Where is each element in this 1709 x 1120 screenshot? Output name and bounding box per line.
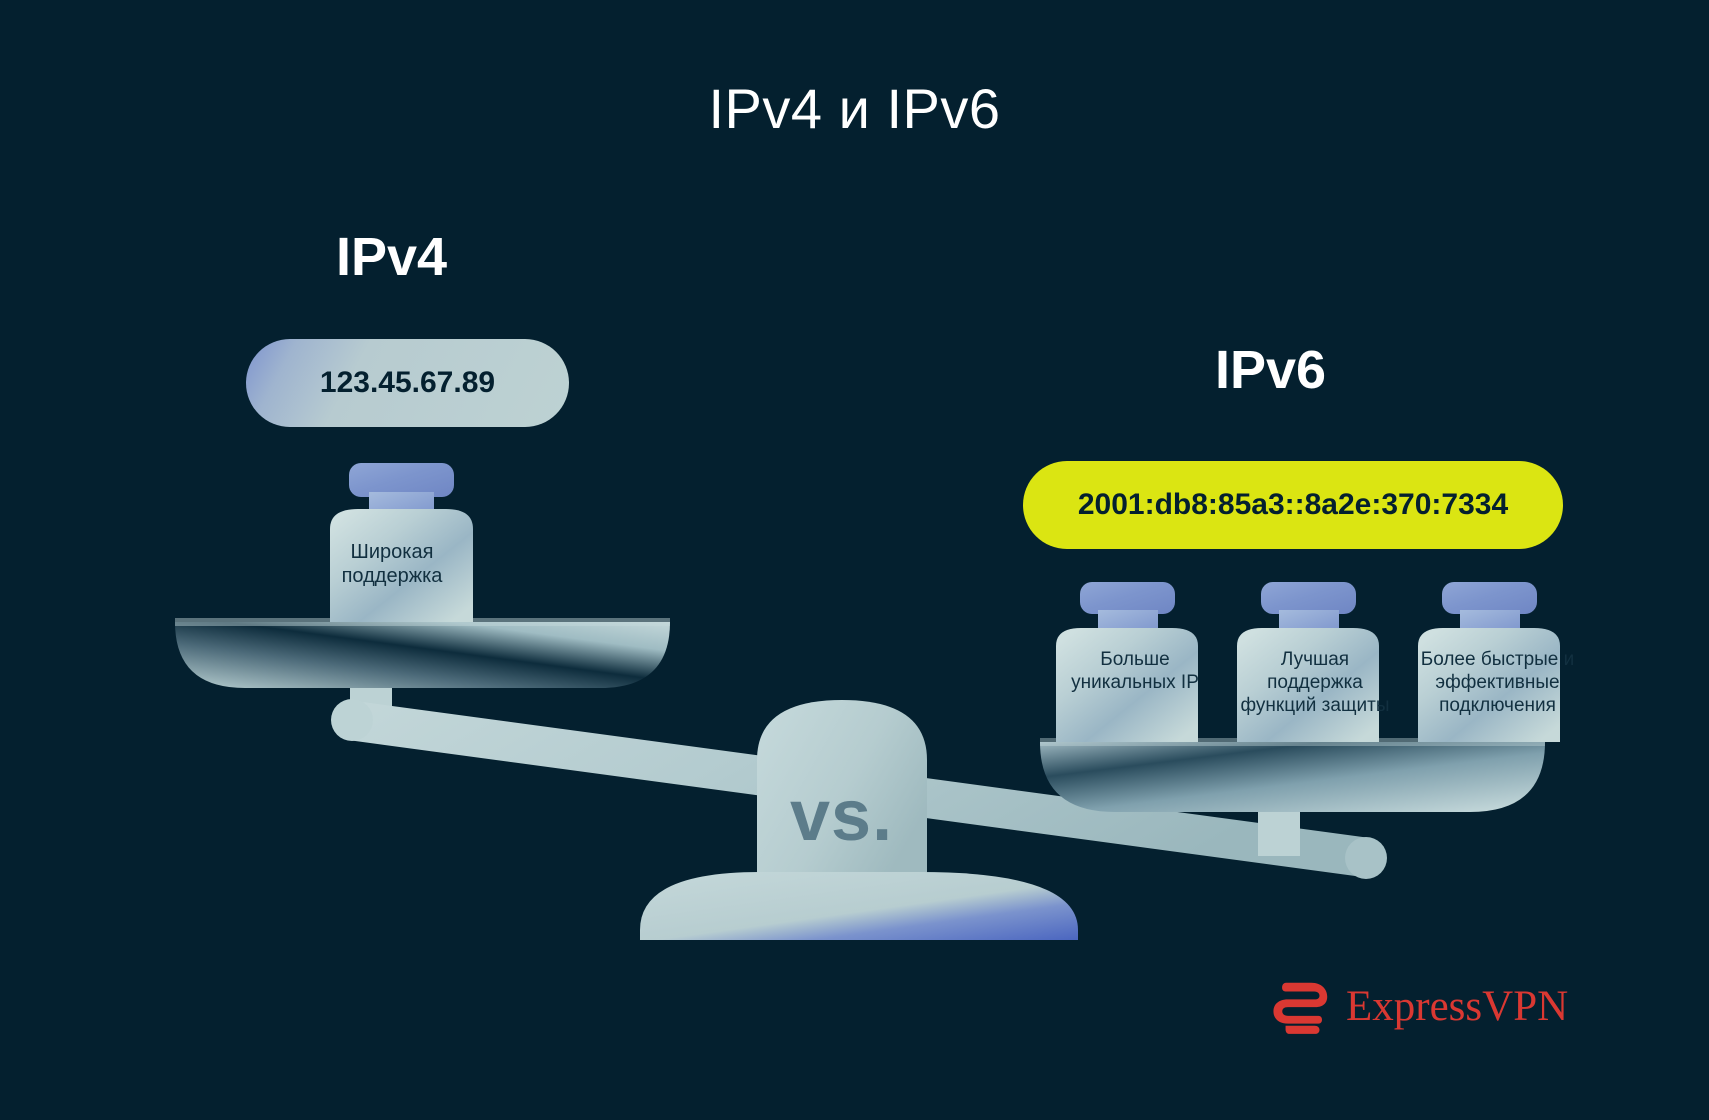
jar-ipv6-1 [1237, 582, 1379, 742]
versus-label: vs. [790, 775, 893, 857]
ipv6-address-text: 2001:db8:85a3::8a2e:370:7334 [1078, 488, 1508, 522]
jar-ipv4-0 [330, 463, 473, 622]
ipv4-heading: IPv4 [336, 230, 447, 284]
infographic-canvas: IPv4 и IPv6 [0, 0, 1709, 1120]
jar-ipv6-2 [1418, 582, 1560, 742]
expressvpn-mark-icon [1272, 975, 1334, 1037]
expressvpn-logo: ExpressVPN [1272, 975, 1568, 1037]
ipv4-address-pill[interactable]: 123.45.67.89 [246, 339, 569, 427]
ipv6-heading: IPv6 [1215, 343, 1326, 397]
ipv6-address-pill[interactable]: 2001:db8:85a3::8a2e:370:7334 [1023, 461, 1563, 549]
balance-scale-illustration [0, 0, 1709, 1120]
expressvpn-wordmark: ExpressVPN [1346, 985, 1568, 1028]
ipv4-address-text: 123.45.67.89 [320, 366, 495, 400]
jar-ipv6-0 [1056, 582, 1198, 742]
